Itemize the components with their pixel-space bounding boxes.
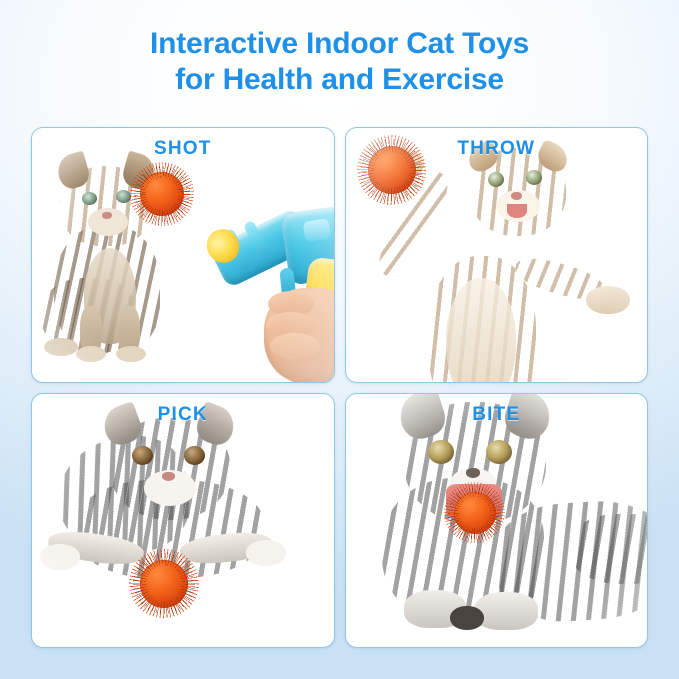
cat-eye-left — [82, 192, 97, 205]
cat-paw-right — [246, 540, 286, 566]
panel-throw[interactable]: THROW — [345, 127, 649, 383]
cat-hind-leg — [570, 514, 649, 584]
cat-nose — [102, 212, 112, 219]
panel-bite[interactable]: BITE — [345, 393, 649, 649]
cat-open-mouth — [507, 204, 527, 218]
panel-pick[interactable]: PICK — [31, 393, 335, 649]
cat-paw-left — [76, 346, 106, 362]
scene-throw — [346, 128, 648, 382]
title-line-2: for Health and Exercise — [0, 62, 679, 98]
cat-nose — [162, 472, 175, 481]
panel-label-throw: THROW — [346, 138, 648, 160]
hand-finger-3 — [270, 333, 320, 359]
cat-paw-pad — [450, 606, 484, 630]
feature-panel-grid: SHOT — [31, 127, 648, 648]
title-line-1: Interactive Indoor Cat Toys — [150, 27, 529, 60]
panel-label-bite: BITE — [346, 404, 648, 426]
cat-eye-left — [132, 446, 153, 465]
cat-eye-right — [184, 446, 205, 465]
panel-label-pick: PICK — [32, 404, 334, 426]
cat-extended-paw — [586, 286, 630, 314]
cat-nose — [466, 468, 480, 478]
orange-spiky-ball — [140, 560, 188, 608]
scene-shot — [32, 128, 334, 382]
cat-eye-right — [116, 190, 131, 203]
orange-spiky-ball — [454, 492, 496, 534]
cat-rear-paw — [44, 338, 78, 356]
product-infographic: Interactive Indoor Cat Toys for Health a… — [0, 0, 679, 679]
panel-label-shot: SHOT — [32, 138, 334, 160]
cat-paw-right — [116, 346, 146, 362]
cat-eye-left — [488, 172, 504, 187]
cat-eye-left — [428, 440, 454, 464]
scene-bite — [346, 394, 648, 648]
page-title: Interactive Indoor Cat Toys for Health a… — [0, 26, 679, 98]
cat-belly — [446, 278, 516, 383]
scene-pick — [32, 394, 334, 648]
cat-eye-right — [526, 170, 542, 185]
panel-shot[interactable]: SHOT — [31, 127, 335, 383]
cat-nose — [511, 192, 522, 200]
orange-spiky-ball — [140, 172, 184, 216]
cat-paw-left — [40, 544, 80, 570]
cat-front-paw-right — [474, 592, 538, 630]
cat-eye-right — [486, 440, 512, 464]
